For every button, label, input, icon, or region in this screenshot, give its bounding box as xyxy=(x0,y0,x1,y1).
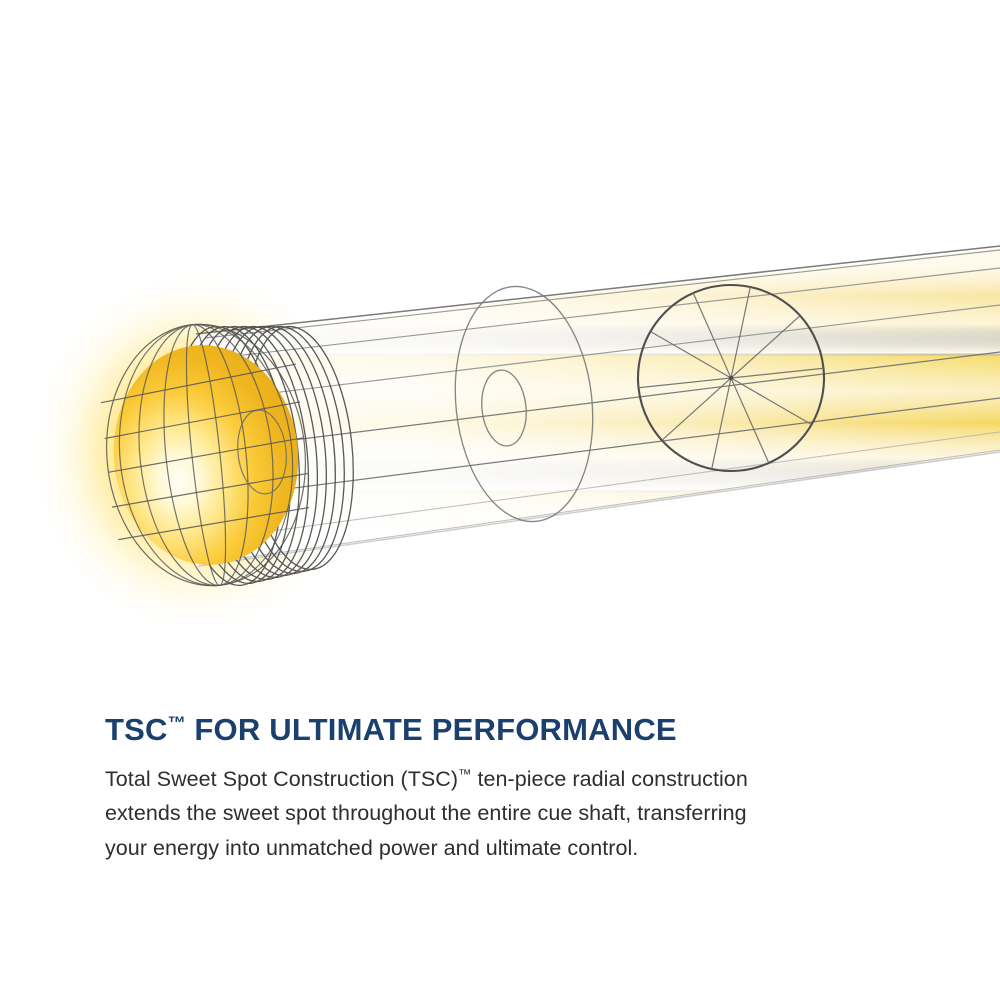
page-title: TSC™ FOR ULTIMATE PERFORMANCE xyxy=(105,712,915,749)
headline-text-pre: TSC xyxy=(105,712,168,747)
trademark-symbol: ™ xyxy=(168,713,186,733)
description-line-3: your energy into unmatched power and ult… xyxy=(105,831,915,866)
tsc-cue-shaft-illustration xyxy=(0,0,1000,700)
shaft-body xyxy=(180,230,1000,580)
description-line-2: extends the sweet spot throughout the en… xyxy=(105,796,915,831)
description-line-1: Total Sweet Spot Construction (TSC)™ ten… xyxy=(105,762,915,797)
headline-text-post: FOR ULTIMATE PERFORMANCE xyxy=(186,712,677,747)
trademark-symbol-body: ™ xyxy=(458,766,471,781)
feature-panel: TSC™ FOR ULTIMATE PERFORMANCE Total Swee… xyxy=(0,0,1000,1000)
caption-block: TSC™ FOR ULTIMATE PERFORMANCE Total Swee… xyxy=(105,712,915,866)
description-paragraph: Total Sweet Spot Construction (TSC)™ ten… xyxy=(105,762,915,866)
